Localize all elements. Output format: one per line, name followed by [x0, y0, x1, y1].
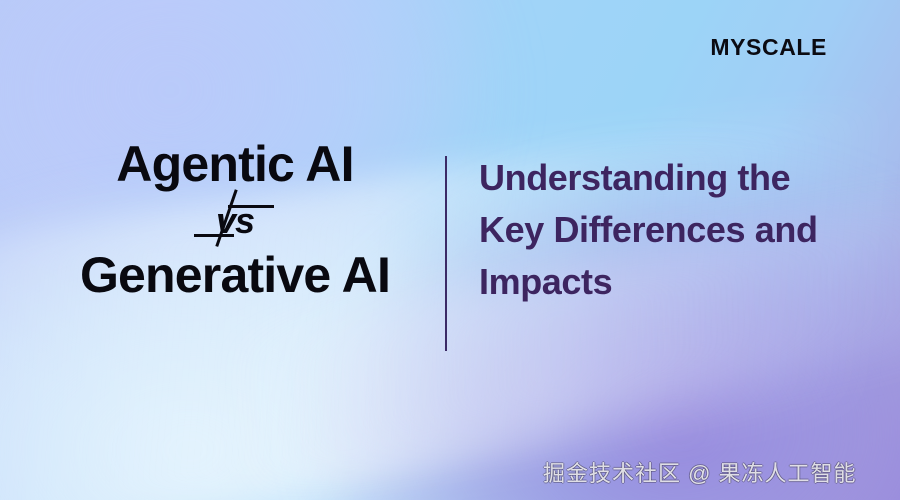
versus-label: vs: [216, 200, 254, 241]
vertical-divider: [445, 156, 447, 351]
headline-block: Agentic AI vs Generative AI: [40, 138, 430, 302]
myscale-logo: MYSCALE: [710, 36, 827, 59]
banner-graphic: MYSCALE Agentic AI vs Generative AI Unde…: [0, 0, 900, 500]
subtitle-text: Understanding the Key Differences and Im…: [479, 152, 839, 308]
versus-mark: vs: [190, 203, 280, 239]
watermark-text: 掘金技术社区 @ 果冻人工智能: [543, 456, 857, 488]
headline-agentic-ai: Agentic AI: [40, 138, 430, 191]
headline-generative-ai: Generative AI: [40, 249, 430, 302]
